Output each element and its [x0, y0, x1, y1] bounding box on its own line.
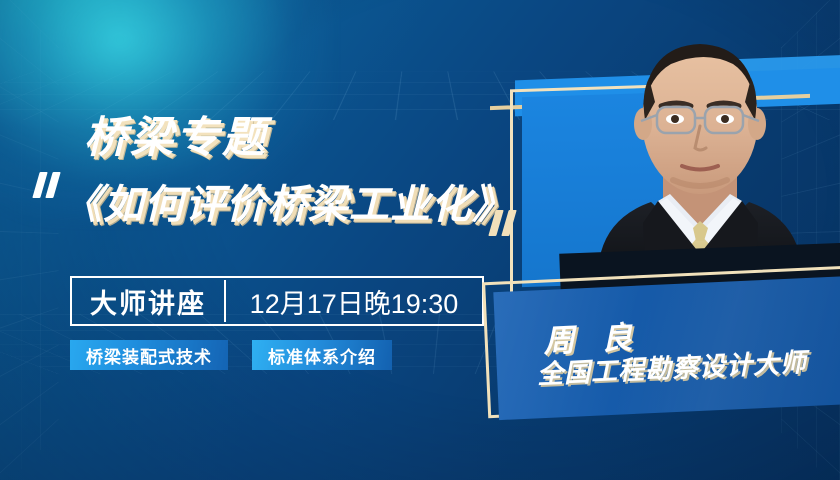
headline-column: 桥梁专题 《如何评价桥梁工业化》 大师讲座 12月17日晚19:30 桥梁装配式…: [0, 0, 520, 480]
lecture-datetime: 12月17日晚19:30: [226, 278, 482, 324]
name-plate-text: 周 良 全国工程勘察设计大师: [493, 276, 840, 420]
lecture-info-box: 大师讲座 12月17日晚19:30: [70, 276, 484, 326]
lecture-title: 《如何评价桥梁工业化》: [62, 172, 513, 230]
webinar-poster: 桥梁专题 《如何评价桥梁工业化》 大师讲座 12月17日晚19:30 桥梁装配式…: [0, 0, 840, 480]
topic-tag[interactable]: 标准体系介绍: [252, 340, 392, 370]
lecture-type-label: 大师讲座: [72, 278, 224, 324]
page-title: 桥梁专题: [84, 103, 268, 165]
topic-tag-list: 桥梁装配式技术 标准体系介绍: [70, 340, 392, 370]
topic-tag[interactable]: 桥梁装配式技术: [70, 340, 228, 370]
